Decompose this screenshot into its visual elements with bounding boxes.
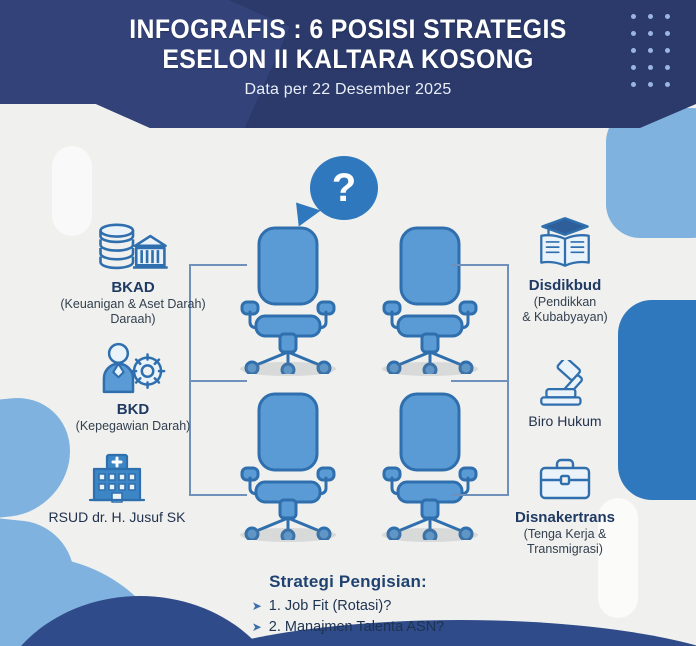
- main-diagram: ?: [0, 128, 696, 646]
- question-mark-label: ?: [332, 168, 356, 208]
- node-label-bkad: BKAD: [38, 279, 228, 296]
- header-text-block: INFOGRAFIS : 6 POSISI STRATEGIS ESELON I…: [0, 0, 696, 99]
- node-biro-hukum: Biro Hukum: [470, 350, 660, 431]
- node-label-disnakertrans: Disnakertrans: [470, 509, 660, 526]
- arrow-right-icon: ➤: [252, 617, 262, 638]
- node-label-disdikbud: Disdikbud: [470, 277, 660, 294]
- hospital-icon: [22, 446, 212, 504]
- node-rsud: RSUD dr. H. Jusuf SK: [22, 446, 212, 527]
- strategy-section: Strategi Pengisian: ➤ 1. Job Fit (Rotasi…: [0, 572, 696, 638]
- question-mark-bubble: ?: [310, 156, 378, 220]
- chair-glyph: [232, 390, 344, 540]
- strategy-item-label: 1. Job Fit (Rotasi)?: [269, 596, 392, 617]
- person-gear-icon: [38, 338, 228, 396]
- node-sublabel-bkad: (Keuanigan & Aset Darah) Daraah): [38, 297, 228, 326]
- node-disnakertrans: Disnakertrans (Tenga Kerja & Transmigras…: [470, 446, 660, 556]
- strategy-list: ➤ 1. Job Fit (Rotasi)? ➤ 2. Manajmen Tal…: [252, 596, 445, 638]
- node-label-bkd: BKD: [38, 401, 228, 418]
- office-chair-icon: [232, 390, 344, 540]
- node-sublabel-disdikbud: (Pendikkan & Kubabyayan): [470, 295, 660, 324]
- dot-grid-icon: [631, 14, 674, 91]
- node-sublabel-bkd: (Kepegawian Darah): [38, 419, 228, 434]
- office-chair-icon: [232, 224, 344, 374]
- chair-glyph: [232, 224, 344, 374]
- infographic-poster: INFOGRAFIS : 6 POSISI STRATEGIS ESELON I…: [0, 0, 696, 646]
- node-bkad: BKAD (Keuanigan & Aset Darah) Daraah): [38, 216, 228, 326]
- page-subtitle: Data per 22 Desember 2025: [0, 81, 696, 99]
- node-disdikbud: Disdikbud (Pendikkan & Kubabyayan): [470, 214, 660, 324]
- strategy-item-label: 2. Manajmen Talenta ASN?: [269, 617, 444, 638]
- coins-bank-icon: [38, 216, 228, 274]
- gavel-icon: [470, 350, 660, 408]
- arrow-right-icon: ➤: [252, 596, 262, 617]
- strategy-item: ➤ 1. Job Fit (Rotasi)?: [252, 596, 445, 617]
- briefcase-icon: [470, 446, 660, 504]
- node-bkd: BKD (Kepegawian Darah): [38, 338, 228, 434]
- page-title-line1: INFOGRAFIS : 6 POSISI STRATEGIS: [28, 14, 668, 44]
- strategy-item: ➤ 2. Manajmen Talenta ASN?: [252, 617, 445, 638]
- strategy-heading: Strategi Pengisian:: [0, 572, 696, 592]
- node-sublabel-disnakertrans: (Tenga Kerja & Transmigrasi): [470, 527, 660, 556]
- page-title-line2: ESELON II KALTARA KOSONG: [28, 44, 668, 74]
- header-banner: INFOGRAFIS : 6 POSISI STRATEGIS ESELON I…: [0, 0, 696, 128]
- node-label-rsud: RSUD dr. H. Jusuf SK: [22, 509, 212, 526]
- graduation-book-icon: [470, 214, 660, 272]
- node-label-biro-hukum: Biro Hukum: [470, 413, 660, 430]
